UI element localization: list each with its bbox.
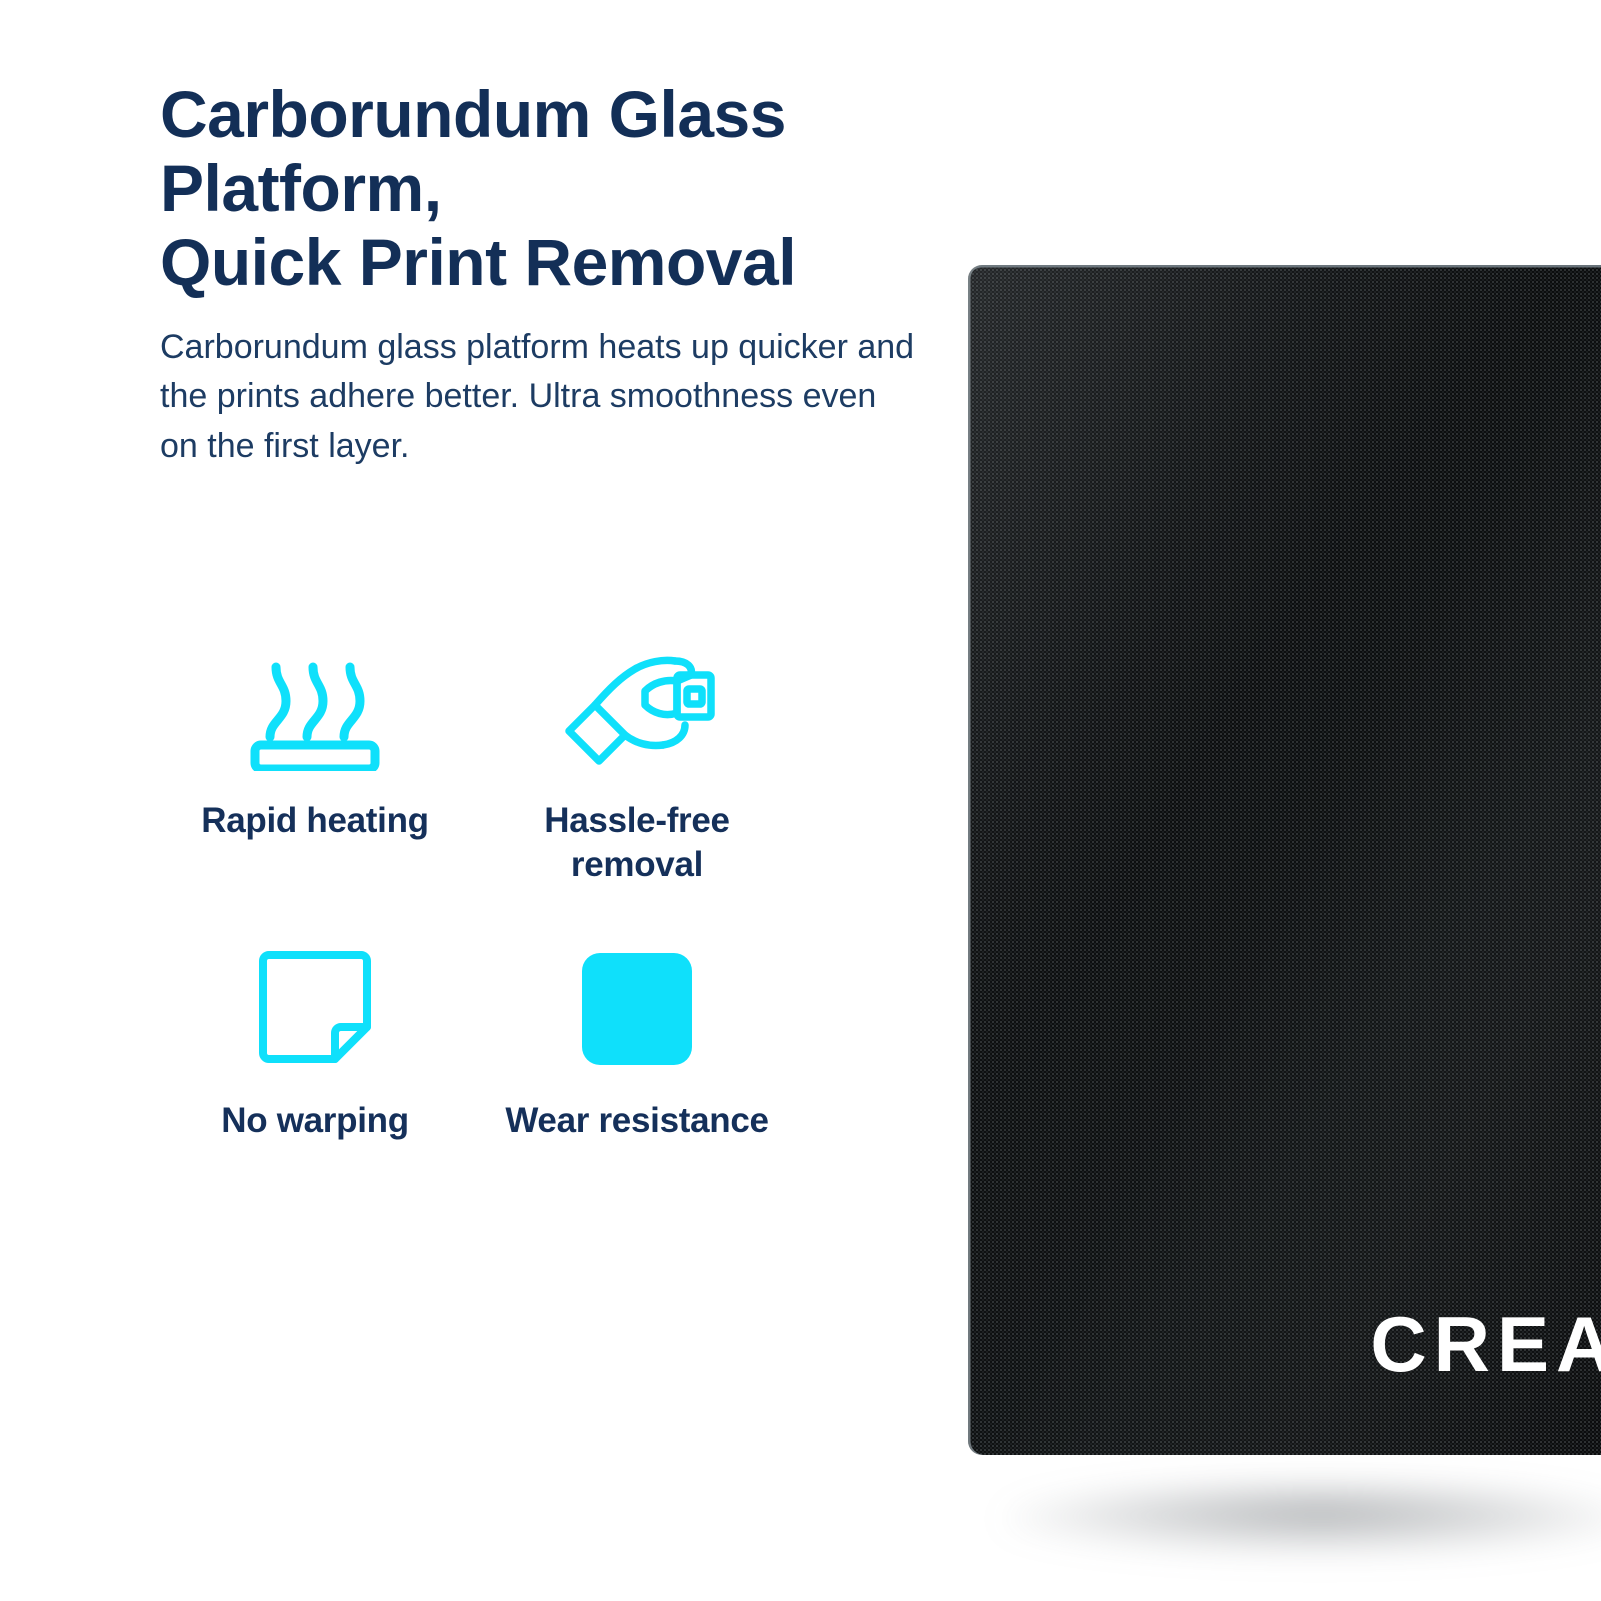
feature-item-no-warping: No warping	[170, 936, 460, 1143]
page-title: Carborundum Glass Platform, Quick Print …	[160, 78, 950, 300]
glass-bed-image: CREAL	[968, 265, 1601, 1455]
hand-peeling-print-icon	[559, 636, 715, 771]
curled-sheet-corner-icon	[251, 936, 379, 1071]
copy-column: Carborundum Glass Platform, Quick Print …	[160, 78, 950, 300]
feature-label: Rapid heating	[201, 799, 429, 843]
glass-bed-surface	[968, 265, 1601, 1455]
feature-grid: Rapid heating	[170, 636, 830, 1143]
feature-item-wear-resistance: Wear resistance	[492, 936, 782, 1143]
product-feature-page: Carborundum Glass Platform, Quick Print …	[0, 0, 1601, 1601]
feature-label: No warping	[221, 1099, 409, 1143]
filled-rounded-square-icon	[576, 936, 698, 1071]
heat-waves-plate-icon	[240, 636, 390, 771]
description-paragraph: Carborundum glass platform heats up quic…	[160, 323, 920, 471]
creality-brand-logo: CREAL	[1370, 1305, 1601, 1383]
feature-item-hassle-free-removal: Hassle-free removal	[492, 636, 782, 936]
feature-item-rapid-heating: Rapid heating	[170, 636, 460, 936]
feature-label: Hassle-free removal	[492, 799, 782, 887]
glass-bed-shadow	[1000, 1487, 1601, 1553]
feature-label: Wear resistance	[505, 1099, 768, 1143]
